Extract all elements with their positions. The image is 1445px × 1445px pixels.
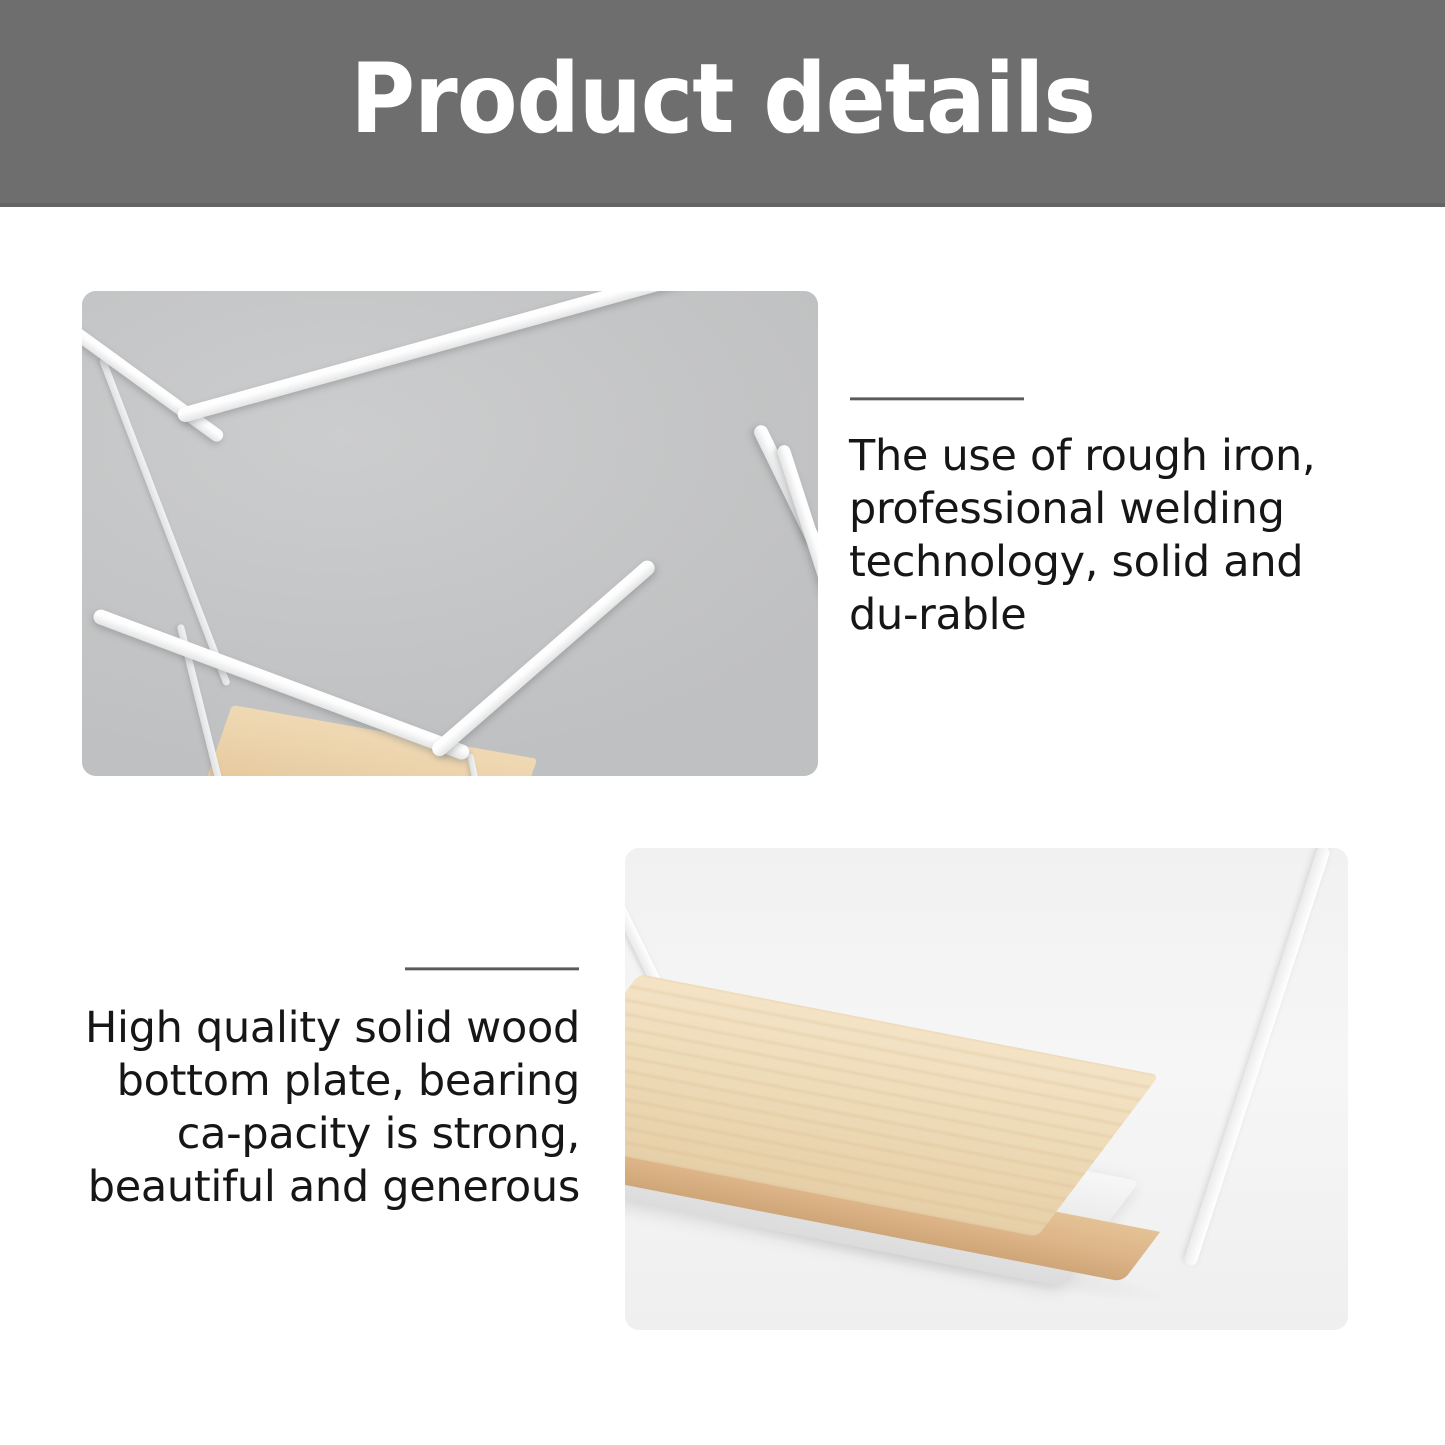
page-title: Product details [350, 51, 1095, 147]
caption-divider-rule-1 [850, 397, 1024, 401]
caption-text-iron-frame: The use of rough iron, professional weld… [849, 430, 1369, 642]
product-photo-wood-plate [625, 848, 1348, 1330]
caption-text-wood-plate: High quality solid wood bottom plate, be… [70, 1002, 580, 1214]
product-photo-iron-frame [82, 291, 818, 776]
caption-divider-rule-2 [405, 967, 579, 971]
photo-background [82, 291, 818, 776]
page-header-banner: Product details [0, 0, 1445, 203]
banner-bottom-edge [0, 203, 1445, 207]
